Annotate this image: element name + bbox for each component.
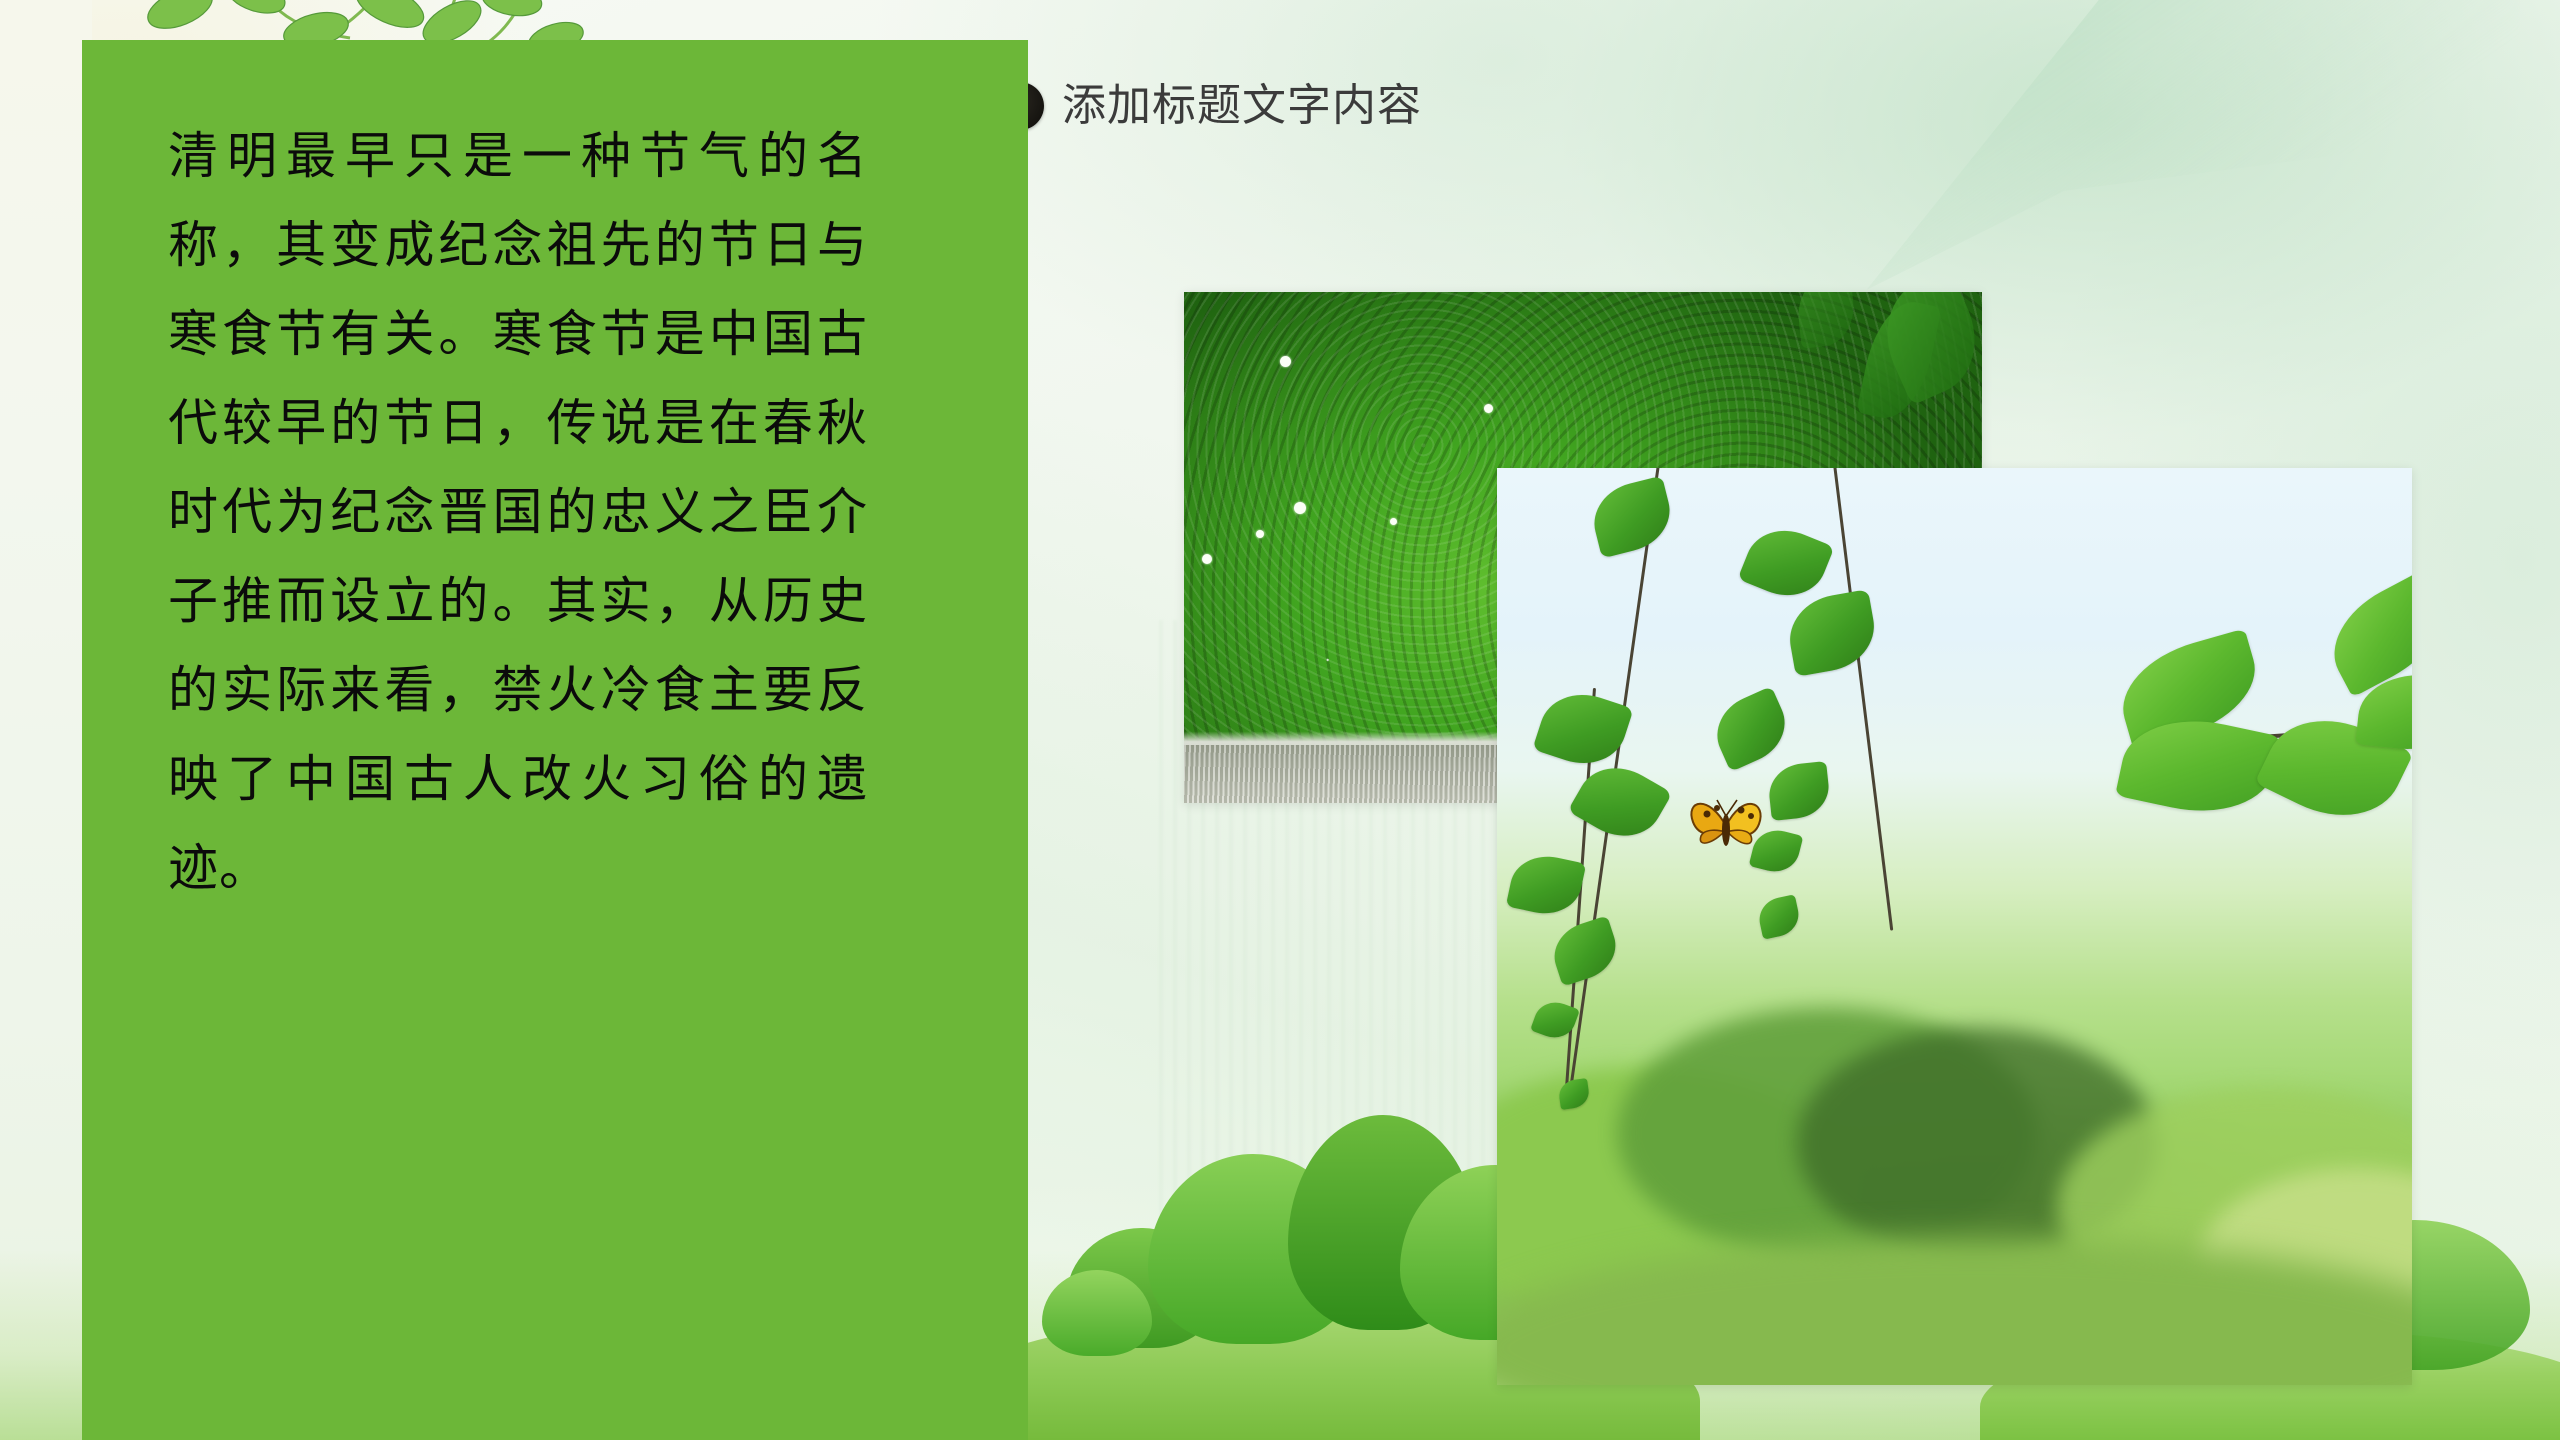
ivy-flower-4: [1256, 530, 1264, 538]
slide-canvas: 添加标题文字内容 清明最早只是一种节气的名称，其变成纪念祖先的节日与寒食节有关。…: [0, 0, 2560, 1440]
vine-leaf-2: [1737, 518, 1834, 608]
ivy-flower-6: [1390, 518, 1397, 525]
vine-leaf-9: [1546, 915, 1624, 986]
ivy-flower-3: [1294, 502, 1306, 514]
vine-leaf-4: [1532, 683, 1634, 776]
page-title: 添加标题文字内容: [1062, 84, 1422, 128]
butterfly-icon: [1683, 786, 1769, 864]
butterfly-moss-photo[interactable]: [1497, 468, 2412, 1385]
left-edge-wash: [0, 0, 92, 1440]
ivy-leaf-accent-3: [1794, 292, 1857, 349]
ivy-flower-2: [1484, 404, 1493, 413]
vine-leaf-1: [1586, 476, 1678, 559]
vine-leaf-5: [1706, 686, 1797, 772]
ivy-flower-5: [1202, 554, 1212, 564]
vine-leaf-3: [1783, 589, 1881, 677]
vine-leaf-8: [1506, 849, 1587, 920]
vine-leaf-7: [1766, 761, 1831, 821]
ivy-flower-1: [1280, 356, 1291, 367]
green-content-panel[interactable]: 清明最早只是一种节气的名称，其变成纪念祖先的节日与寒食节有关。寒食节是中国古代较…: [82, 40, 1028, 1440]
vine-strand-2: [1833, 468, 1893, 931]
slide-title-row: 添加标题文字内容: [996, 82, 1422, 130]
body-paragraph: 清明最早只是一种节气的名称，其变成纪念祖先的节日与寒食节有关。寒食节是中国古代较…: [168, 112, 868, 913]
vine-leaf-11: [1755, 894, 1802, 939]
